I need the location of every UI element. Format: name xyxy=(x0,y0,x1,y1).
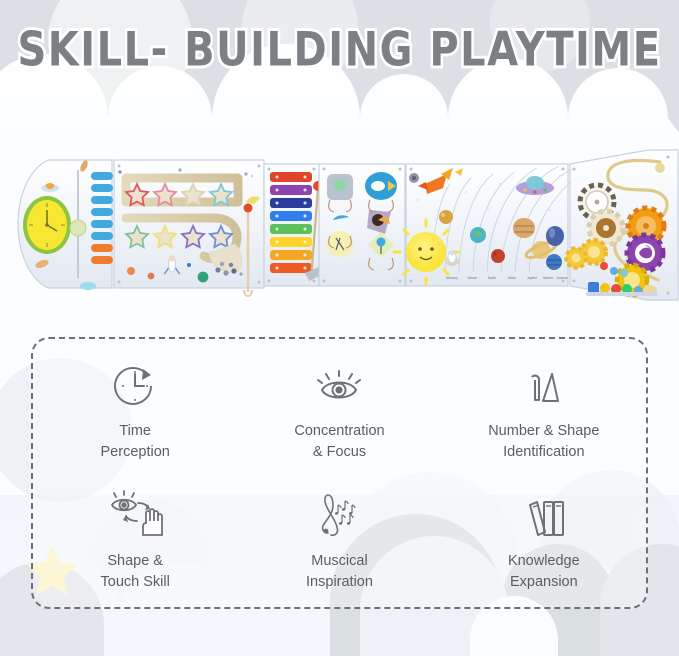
feature-label: Time Perception xyxy=(101,421,170,462)
planet-label: Saturn xyxy=(543,276,553,280)
eye-focus-icon xyxy=(314,357,364,409)
gear-yellow-tiny xyxy=(566,248,586,268)
eye-hand-touch-icon xyxy=(107,487,163,539)
planet-labels: Mercury Venus Earth Mars Jupiter Saturn … xyxy=(446,276,583,280)
planet-label: Mercury xyxy=(446,276,459,280)
analog-clock xyxy=(23,196,71,254)
feature-label: Shape & Touch Skill xyxy=(101,551,170,592)
music-note-icon xyxy=(311,487,367,539)
panel-nose-clock xyxy=(18,159,113,290)
panel-shape-cards xyxy=(319,164,405,286)
features-panel: Time Perception Concentration & Focus Nu… xyxy=(31,337,648,609)
feature-number-shape: Number & Shape Identification xyxy=(442,357,646,462)
feature-shape-touch: Shape & Touch Skill xyxy=(33,487,237,592)
planet-label: Venus xyxy=(467,276,477,280)
product-busy-board-image: Mercury Venus Earth Mars Jupiter Saturn … xyxy=(0,140,679,325)
planet-label: Jupiter xyxy=(527,276,538,280)
feature-label: Concentration & Focus xyxy=(294,421,384,462)
feature-knowledge-expansion: Knowledge Expansion xyxy=(442,487,646,592)
panel-gears xyxy=(566,150,678,300)
feature-label: Muscical Inspiration xyxy=(306,551,373,592)
feature-time-perception: Time Perception xyxy=(33,357,237,462)
planet-label: Uranus xyxy=(557,276,568,280)
clock-rotate-icon xyxy=(110,357,160,409)
panel-star-sliders xyxy=(114,160,264,288)
planet-earth xyxy=(470,227,486,243)
gear-yellow-bottom xyxy=(617,265,647,295)
page-title: SKILL- BUILDING PLAYTIME xyxy=(17,23,661,77)
page-title-container: SKILL- BUILDING PLAYTIME xyxy=(0,0,679,100)
feature-label: Knowledge Expansion xyxy=(508,551,580,592)
number-shape-icon xyxy=(519,357,569,409)
planet-mars xyxy=(491,249,505,263)
planet-venus xyxy=(439,210,453,224)
books-icon xyxy=(519,487,569,539)
feature-muscical-inspiration: Muscical Inspiration xyxy=(237,487,441,592)
satellite-doodle xyxy=(409,173,419,183)
planet-label: Mars xyxy=(508,276,516,280)
planet-uranus xyxy=(546,226,564,246)
feature-label: Number & Shape Identification xyxy=(488,421,599,462)
planet-label: Earth xyxy=(488,276,496,280)
feature-concentration-focus: Concentration & Focus xyxy=(237,357,441,462)
planet-jupiter xyxy=(513,218,535,238)
planet-neptune xyxy=(546,254,562,270)
astronaut-doodle xyxy=(448,250,456,263)
